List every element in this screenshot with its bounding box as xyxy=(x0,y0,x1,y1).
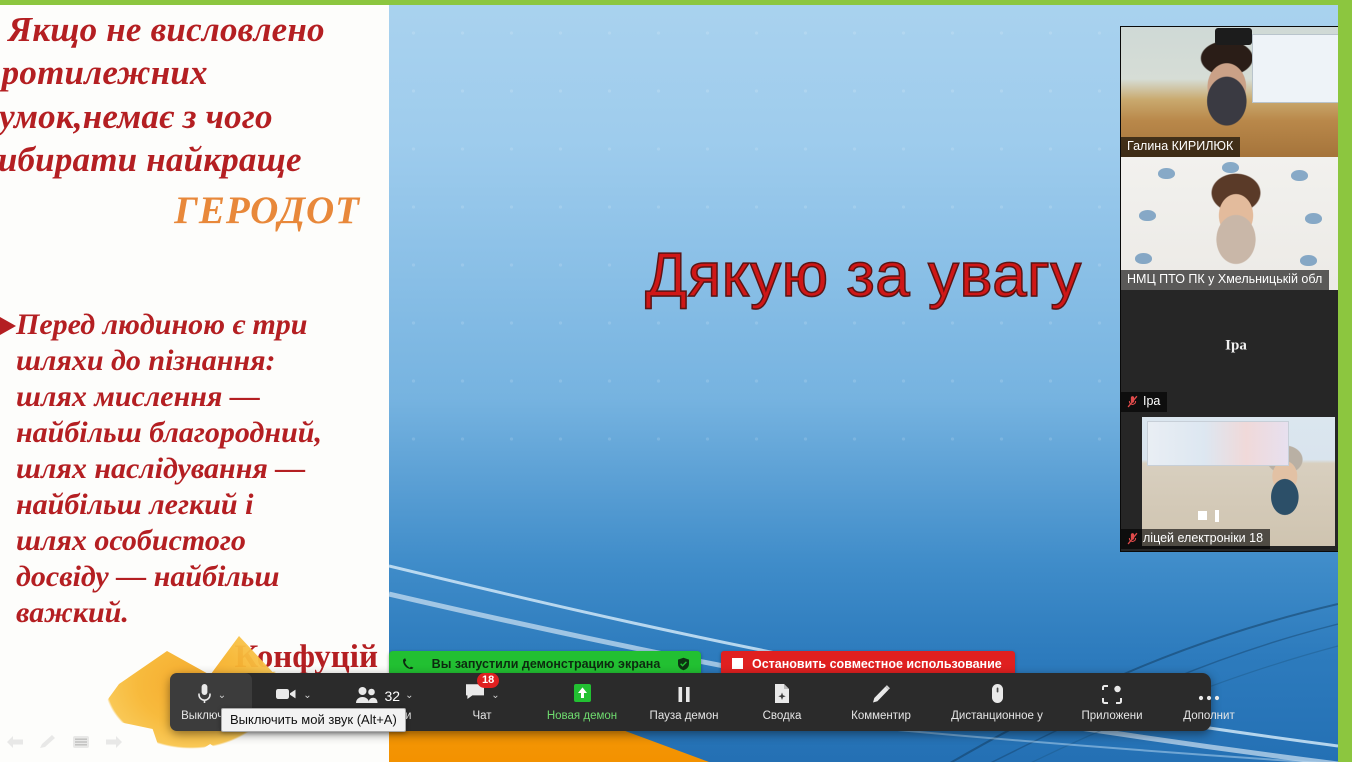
summary-button[interactable]: Сводка xyxy=(734,673,830,731)
wall-object xyxy=(1215,28,1252,45)
apps-icon xyxy=(1100,683,1124,706)
share-status-text: Вы запустили демонстрацию экрана xyxy=(415,657,677,671)
share-screen-up-arrow-icon xyxy=(570,682,595,706)
quote-line: шлях особистого xyxy=(16,523,389,559)
toolbar-label: Сводка xyxy=(763,710,802,723)
whiteboard-background xyxy=(1252,34,1341,104)
next-slide-arrow-icon[interactable] xyxy=(103,733,125,751)
toolbar-label: Дополнит xyxy=(1183,710,1234,723)
chevron-down-icon[interactable]: ⌄ xyxy=(218,689,226,702)
more-icon-wrap xyxy=(1196,682,1222,706)
participant-name: Галина КИРИЛЮК xyxy=(1127,139,1233,154)
quote-author-confucius: Конфуцій xyxy=(16,639,389,676)
quote-line: думок,немає з чого xyxy=(0,95,382,138)
chat-icon-wrap: 18 ⌄ xyxy=(464,682,499,706)
quote-line: важкий. xyxy=(16,595,389,631)
participant-filmstrip[interactable]: Галина КИРИЛЮК НМЦ ПТО ПК у Хмельницькій… xyxy=(1120,26,1352,552)
participant-name: ліцей електроніки 18 xyxy=(1143,531,1263,546)
herodotus-quote: Якщо не висловлено протилежних думок,нем… xyxy=(0,8,382,233)
menu-list-icon[interactable] xyxy=(70,733,92,751)
participant-name: НМЦ ПТО ПК у Хмельницькій обл xyxy=(1127,272,1322,287)
arrow-bullet-icon xyxy=(0,317,16,335)
wall-outlet xyxy=(1198,511,1207,520)
participants-icon xyxy=(355,684,380,706)
chat-unread-badge: 18 xyxy=(477,673,499,688)
participant-tile[interactable]: Іра Іра xyxy=(1121,290,1351,412)
previous-slide-arrow-icon[interactable] xyxy=(4,733,26,751)
apps-icon-wrap xyxy=(1100,682,1124,706)
quote-line: найбільш легкий і xyxy=(16,487,389,523)
toolbar-label: Новая демон xyxy=(547,710,617,723)
wall-map-background xyxy=(1147,421,1288,466)
remote-control-icon-wrap xyxy=(989,682,1006,706)
new-share-button[interactable]: Новая демон xyxy=(530,673,634,731)
quote-line: протилежних xyxy=(0,51,382,94)
quote-line: вибирати найкраще xyxy=(0,138,382,181)
annotate-button[interactable]: Комментир xyxy=(830,673,932,731)
muted-microphone-icon xyxy=(1127,532,1138,545)
stop-square-icon xyxy=(732,658,743,669)
mouse-remote-control-icon xyxy=(989,682,1006,706)
apps-button[interactable]: Приложени xyxy=(1062,673,1162,731)
shield-icon[interactable] xyxy=(677,657,690,671)
mic-tooltip: Выключить мой звук (Alt+A) xyxy=(221,708,406,732)
toolbar-label: Дистанционное у xyxy=(951,710,1043,723)
wall-switch xyxy=(1215,510,1219,522)
participants-icon-wrap: 32 ⌄ xyxy=(355,682,414,706)
quote-line: шлях мислення — xyxy=(16,379,389,415)
participant-namebar: Галина КИРИЛЮК xyxy=(1121,137,1240,157)
annotate-icon-wrap xyxy=(870,682,892,706)
quote-line: найбільш благородний, xyxy=(16,415,389,451)
toolbar-label: Комментир xyxy=(851,710,911,723)
more-ellipsis-icon xyxy=(1196,686,1222,706)
chevron-down-icon[interactable]: ⌄ xyxy=(405,689,413,702)
microphone-icon-wrap: ⌄ xyxy=(196,682,226,706)
participant-avatar-initials: Іра xyxy=(1121,338,1351,355)
microphone-icon xyxy=(196,682,213,706)
stop-sharing-label: Остановить совместное использование xyxy=(752,657,1002,671)
video-feed xyxy=(1142,417,1335,546)
participant-name: Іра xyxy=(1143,394,1160,409)
toolbar-label: Пауза демон xyxy=(650,710,719,723)
pen-tool-icon[interactable] xyxy=(37,733,59,751)
chevron-down-icon[interactable]: ⌄ xyxy=(491,689,499,702)
quote-line: Перед людиною є три xyxy=(16,307,389,343)
chevron-down-icon[interactable]: ⌄ xyxy=(303,689,311,702)
remote-control-button[interactable]: Дистанционное у xyxy=(932,673,1062,731)
participant-namebar: Іра xyxy=(1121,392,1167,412)
pencil-annotate-icon xyxy=(870,683,892,706)
quote-line: шляхи до пізнання: xyxy=(16,343,389,379)
quote-line: шлях наслідування — xyxy=(16,451,389,487)
summary-icon-wrap xyxy=(771,682,793,706)
pause-icon xyxy=(674,684,694,706)
participant-tile[interactable]: НМЦ ПТО ПК у Хмельницькій обл xyxy=(1121,157,1351,290)
muted-microphone-icon xyxy=(1127,395,1138,408)
pause-icon-wrap xyxy=(674,682,694,706)
toolbar-label: Чат xyxy=(472,710,491,723)
powerpoint-nav-controls[interactable] xyxy=(4,728,125,756)
pause-share-button[interactable]: Пауза демон xyxy=(634,673,734,731)
video-camera-icon-wrap: ⌄ xyxy=(274,682,311,706)
participant-namebar: ліцей електроніки 18 xyxy=(1121,529,1270,549)
toolbar-label: Приложени xyxy=(1081,710,1142,723)
share-screen-icon-wrap xyxy=(570,682,595,706)
quote-author-herodotus: ГЕРОДОТ xyxy=(0,188,382,233)
participant-namebar: НМЦ ПТО ПК у Хмельницькій обл xyxy=(1121,270,1329,290)
video-camera-icon xyxy=(274,682,298,706)
quote-line: Якщо не висловлено xyxy=(0,8,382,51)
chat-button[interactable]: 18 ⌄ Чат xyxy=(434,673,530,731)
participant-tile[interactable]: ліцей електроніки 18 xyxy=(1121,412,1351,549)
phone-icon xyxy=(401,657,415,671)
participant-tile[interactable]: Галина КИРИЛЮК xyxy=(1121,27,1351,157)
left-presentation-slide: Якщо не висловлено протилежних думок,нем… xyxy=(0,4,389,762)
more-options-button[interactable]: Дополнит xyxy=(1162,673,1256,731)
quote-line: досвіду — найбільш xyxy=(16,559,389,595)
confucius-quote: Перед людиною є три шляхи до пізнання: ш… xyxy=(16,307,389,676)
summary-sparkle-icon xyxy=(771,682,793,706)
participants-count: 32 xyxy=(385,690,401,703)
